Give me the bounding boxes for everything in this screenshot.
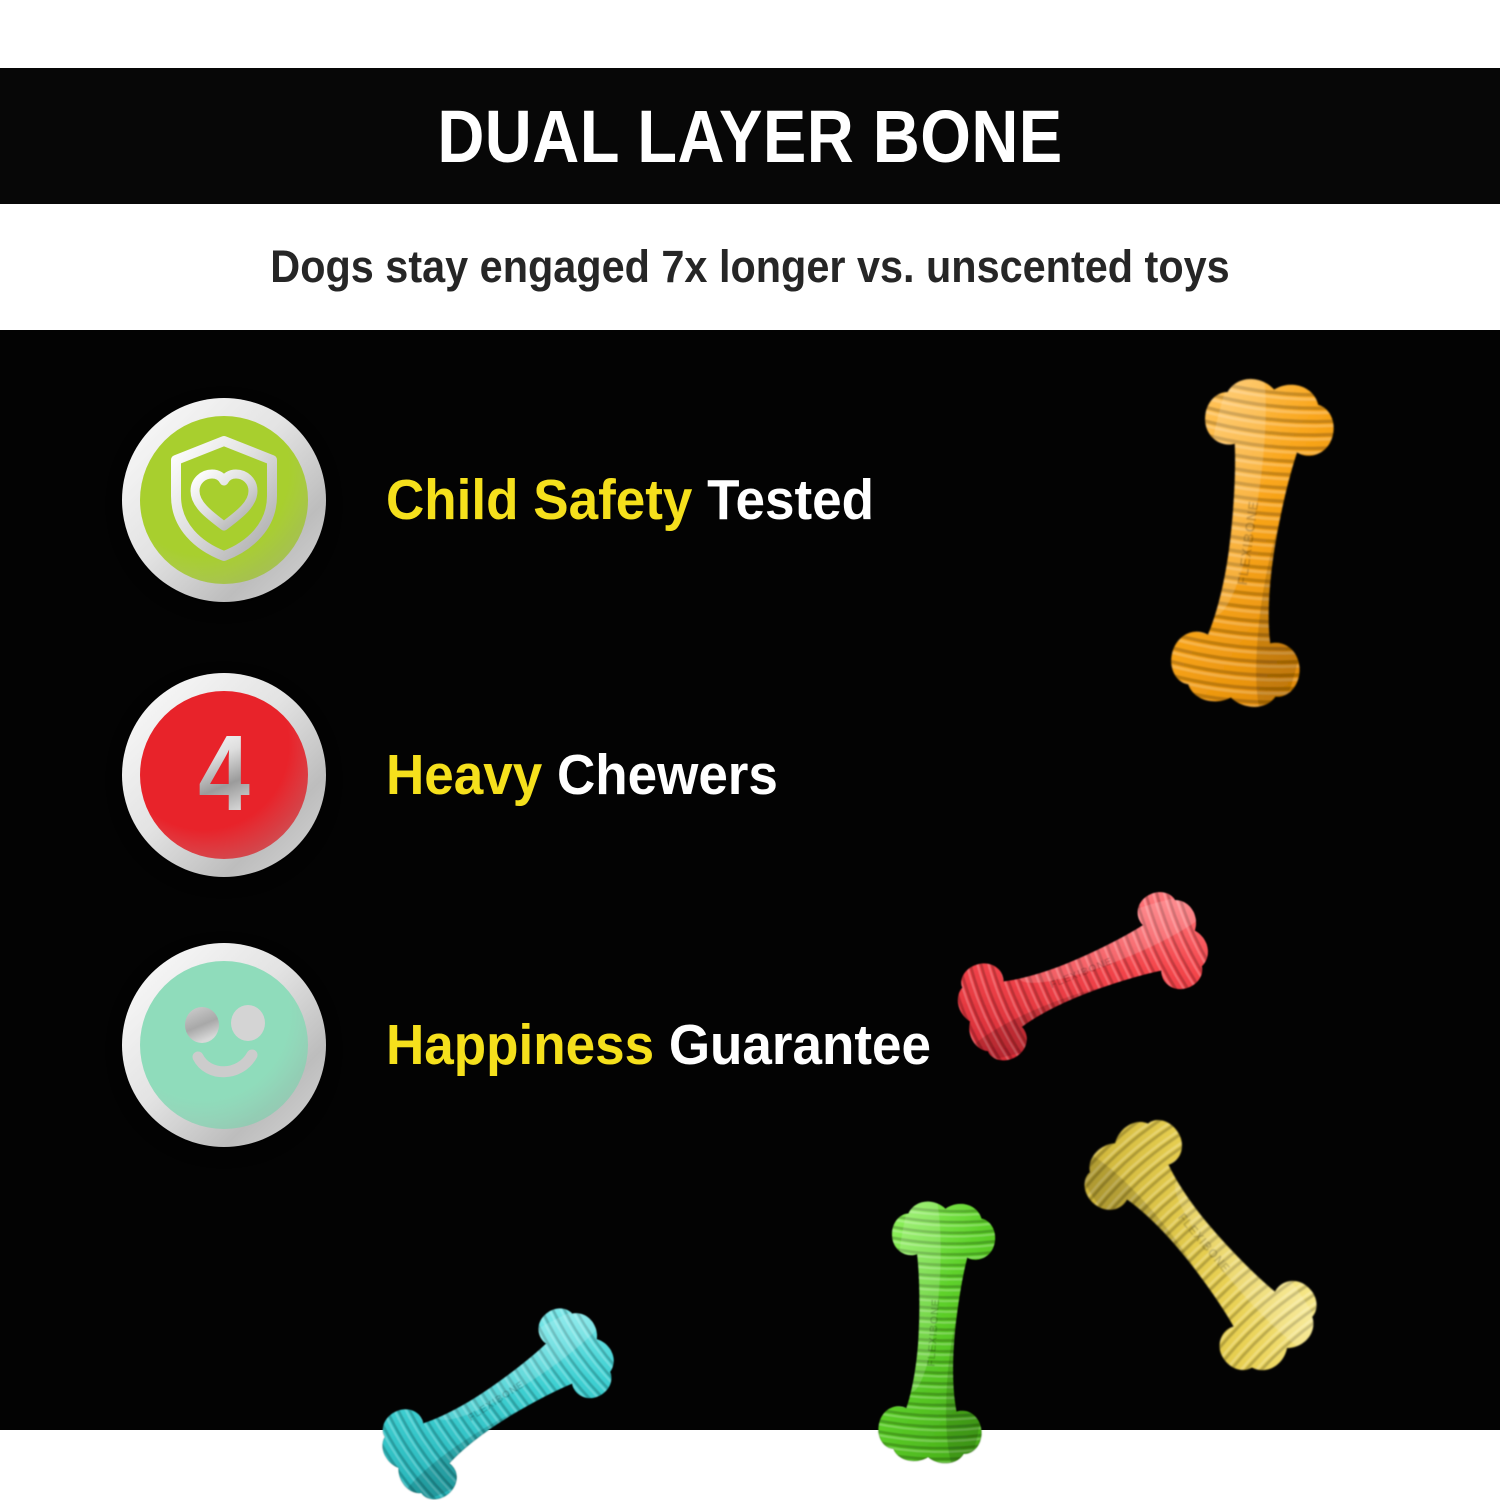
- badge-happiness: [122, 943, 326, 1147]
- feature-rest: Tested: [692, 468, 874, 532]
- feature-row-child-safety: Child Safety Tested: [122, 398, 911, 602]
- feature-row-happiness: Happiness Guarantee: [122, 943, 972, 1147]
- smiley-face-icon: [160, 983, 288, 1108]
- badge-heavy-chewers: 4: [122, 673, 326, 877]
- feature-highlight: Happiness: [386, 1013, 654, 1077]
- badge-inner-happiness: [140, 961, 308, 1129]
- number-four-icon: 4: [198, 719, 250, 827]
- shield-heart-icon: [164, 434, 284, 567]
- product-infographic: DUAL LAYER BONE Dogs stay engaged 7x lon…: [0, 0, 1500, 1500]
- feature-highlight: Child Safety: [386, 468, 692, 532]
- page-subtitle: Dogs stay engaged 7x longer vs. unscente…: [60, 204, 1440, 330]
- page-title: DUAL LAYER BONE: [90, 68, 1410, 204]
- feature-label-heavy-chewers: Heavy Chewers: [386, 742, 778, 808]
- badge-inner-child-safety: [140, 416, 308, 584]
- feature-rest: Chewers: [542, 743, 778, 807]
- feature-highlight: Heavy: [386, 743, 542, 807]
- feature-label-child-safety: Child Safety Tested: [386, 467, 874, 533]
- feature-row-heavy-chewers: 4 Heavy Chewers: [122, 673, 807, 877]
- badge-inner-heavy-chewers: 4: [140, 691, 308, 859]
- bone-green: FLEXIBONE: [868, 1190, 1007, 1470]
- feature-rest: Guarantee: [654, 1013, 931, 1077]
- badge-child-safety: [122, 398, 326, 602]
- feature-label-happiness: Happiness Guarantee: [386, 1012, 931, 1078]
